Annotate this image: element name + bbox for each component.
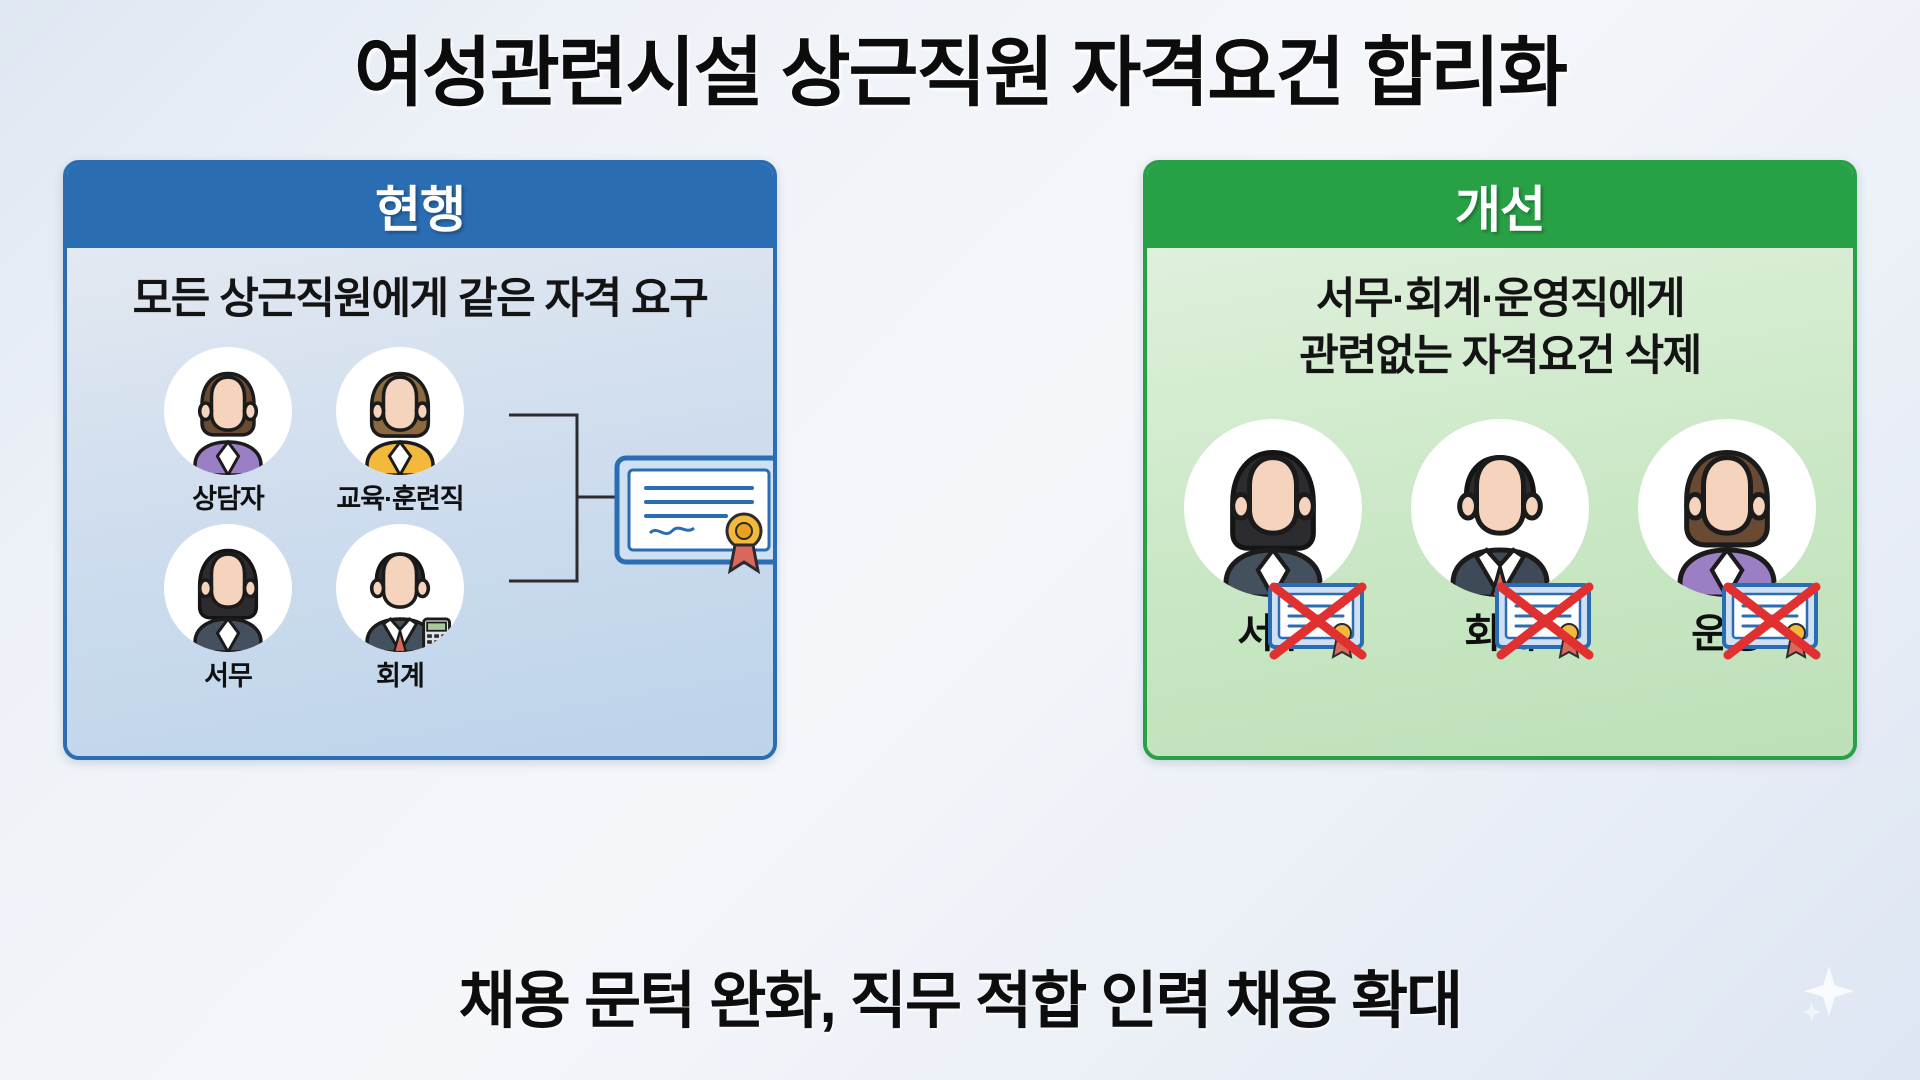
improved-figure-admin: 서무 [1171, 419, 1376, 719]
current-figure-cluster: 상담자 [77, 347, 763, 742]
woman-operations-avatar [1638, 419, 1816, 597]
man-accountant-avatar [1411, 419, 1589, 597]
woman-counselor-avatar [164, 347, 292, 475]
improved-figure-operations: 운영 [1625, 419, 1830, 719]
panel-improved-body: 서무·회계·운영직에게 관련없는 자격요건 삭제 [1147, 248, 1853, 756]
man-accountant-avatar [336, 524, 464, 652]
panel-current-header: 현행 [67, 164, 773, 248]
woman-admin-avatar [164, 524, 292, 652]
figure-admin: 서무 [153, 524, 303, 693]
panel-improved-header-label: 개선 [1455, 170, 1545, 242]
panel-current-body: 모든 상근직원에게 같은 자격 요구 [67, 248, 773, 756]
woman-admin-avatar [1184, 419, 1362, 597]
bottom-caption: 채용 문턱 완화, 직무 적합 인력 채용 확대 [0, 950, 1920, 1040]
certificate-crossed-out-icon [1489, 579, 1601, 665]
current-figure-grid: 상담자 [153, 347, 475, 693]
panel-improved-header: 개선 [1147, 164, 1853, 248]
infographic-stage: 여성관련시설 상근직원 자격요건 합리화 현행 모든 상근직원에게 같은 자격 … [0, 0, 1920, 1080]
figure-counselor-label: 상담자 [153, 477, 303, 516]
page-title: 여성관련시설 상근직원 자격요건 합리화 [0, 36, 1920, 112]
panel-current-header-label: 현행 [375, 170, 465, 242]
improved-figure-accountant: 회계 [1398, 419, 1603, 719]
certificate-icon [614, 455, 777, 575]
panel-improved-caption-line1: 서무·회계·운영직에게 [1157, 268, 1843, 325]
panel-improved: 개선 서무·회계·운영직에게 관련없는 자격요건 삭제 [1143, 160, 1857, 760]
panel-current-caption: 모든 상근직원에게 같은 자격 요구 [77, 268, 763, 325]
panel-improved-caption-line2: 관련없는 자격요건 삭제 [1157, 325, 1843, 382]
figure-trainer-label: 교육·훈련직 [325, 477, 475, 516]
page-title-wrapper: 여성관련시설 상근직원 자격요건 합리화 [0, 36, 1920, 112]
figure-trainer: 교육·훈련직 [325, 347, 475, 516]
certificate-crossed-out-icon [1716, 579, 1828, 665]
sparkle-icon [1800, 964, 1858, 1022]
improved-figure-cluster: 서무 [1157, 419, 1843, 719]
figure-admin-label: 서무 [153, 654, 303, 693]
figure-counselor: 상담자 [153, 347, 303, 516]
figure-accountant: 회계 [325, 524, 475, 693]
figure-accountant-label: 회계 [325, 654, 475, 693]
panel-current: 현행 모든 상근직원에게 같은 자격 요구 [63, 160, 777, 760]
certificate-crossed-out-icon [1262, 579, 1374, 665]
comparison-panels: 현행 모든 상근직원에게 같은 자격 요구 [63, 160, 1857, 760]
woman-trainer-avatar [336, 347, 464, 475]
